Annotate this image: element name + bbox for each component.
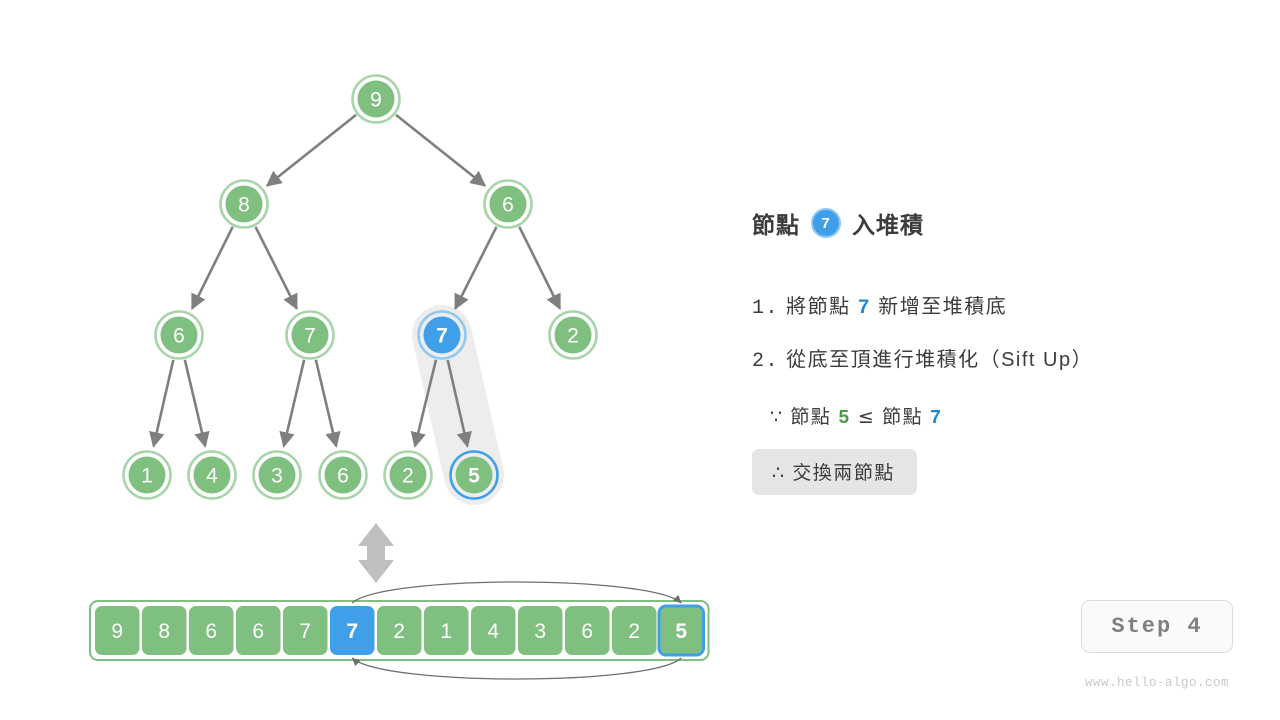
array-cell: 9 bbox=[95, 606, 140, 655]
panel-title-node-badge: 7 bbox=[811, 208, 841, 238]
array-cell: 8 bbox=[142, 606, 187, 655]
array-cell: 2 bbox=[612, 606, 657, 655]
step-1-text-before: 將節點 bbox=[786, 296, 851, 318]
diagram-canvas: 9866772143625 9866772143625 節點 7 入堆積 1. … bbox=[0, 0, 1280, 720]
conclusion-text: 交換兩節點 bbox=[792, 463, 895, 484]
tree-node-value: 6 bbox=[502, 194, 514, 217]
reason-left-value: 5 bbox=[838, 407, 851, 429]
reason-right-value: 7 bbox=[930, 407, 943, 429]
array-cell-value: 1 bbox=[440, 620, 452, 643]
tree-node: 2 bbox=[550, 312, 597, 359]
tree-node: 8 bbox=[221, 181, 268, 228]
tree-node: 3 bbox=[254, 452, 301, 499]
panel-title-prefix: 節點 bbox=[752, 206, 800, 240]
tree-node: 6 bbox=[156, 312, 203, 359]
tree-node: 7 bbox=[419, 312, 466, 359]
tree-node: 6 bbox=[485, 181, 532, 228]
panel-title-suffix: 入堆積 bbox=[852, 206, 924, 240]
step-1-index: 1. bbox=[752, 297, 779, 320]
heap-array: 9866772143625 bbox=[90, 601, 709, 660]
array-cell: 6 bbox=[236, 606, 281, 655]
step-2-text: 從底至頂進行堆積化（Sift Up） bbox=[786, 349, 1093, 371]
panel-title: 節點 7 入堆積 bbox=[752, 206, 1252, 240]
swap-vertical-arrow-icon bbox=[358, 523, 394, 583]
array-cell-value: 3 bbox=[534, 620, 546, 643]
array-cell-value: 2 bbox=[393, 620, 405, 643]
instruction-step-2: 2. 從底至頂進行堆積化（Sift Up） bbox=[752, 343, 1093, 373]
because-symbol: ∵ bbox=[770, 406, 784, 428]
tree-node-value: 7 bbox=[304, 325, 316, 348]
tree-node: 5 bbox=[451, 452, 498, 499]
array-cell-value: 7 bbox=[346, 620, 358, 643]
tree-nodes: 9866772143625 bbox=[124, 76, 597, 499]
tree-node: 7 bbox=[287, 312, 334, 359]
array-cell: 1 bbox=[424, 606, 469, 655]
array-cell-value: 5 bbox=[675, 620, 687, 643]
therefore-symbol: ∴ bbox=[772, 462, 786, 484]
watermark: www.hello-algo.com bbox=[1073, 676, 1241, 690]
reason-operator: ≤ bbox=[858, 406, 875, 428]
array-cell-value: 9 bbox=[111, 620, 123, 643]
tree-node: 6 bbox=[320, 452, 367, 499]
tree-node-value: 6 bbox=[337, 465, 349, 488]
array-cell-value: 8 bbox=[158, 620, 170, 643]
tree-node: 1 bbox=[124, 452, 171, 499]
array-cell: 7 bbox=[283, 606, 328, 655]
array-cell-value: 7 bbox=[299, 620, 311, 643]
step-badge: Step 4 bbox=[1081, 600, 1233, 653]
reason-right-label: 節點 bbox=[882, 407, 923, 428]
tree-node-value: 3 bbox=[271, 465, 283, 488]
array-cell: 3 bbox=[518, 606, 563, 655]
conclusion-badge: ∴ 交換兩節點 bbox=[752, 449, 917, 495]
tree-node-value: 7 bbox=[436, 325, 448, 348]
tree-node-value: 2 bbox=[567, 325, 579, 348]
explanation-panel: 節點 7 入堆積 1. 將節點 7 新增至堆積底 2. 從底至頂進行堆積化（Si… bbox=[752, 206, 1252, 240]
step-1-text-after: 新增至堆積底 bbox=[878, 296, 1007, 318]
tree-node-value: 1 bbox=[141, 465, 153, 488]
instruction-step-1: 1. 將節點 7 新增至堆積底 bbox=[752, 290, 1007, 320]
reason-left-label: 節點 bbox=[790, 407, 831, 428]
step-1-value: 7 bbox=[858, 297, 872, 320]
tree-node-value: 5 bbox=[468, 465, 480, 488]
step-2-index: 2. bbox=[752, 350, 779, 373]
tree-node-value: 8 bbox=[238, 194, 250, 217]
array-cell: 7 bbox=[330, 606, 375, 655]
tree-node: 9 bbox=[353, 76, 400, 123]
array-cell-value: 6 bbox=[252, 620, 264, 643]
tree-node-value: 2 bbox=[402, 465, 414, 488]
tree-node-value: 9 bbox=[370, 89, 382, 112]
tree-node: 2 bbox=[385, 452, 432, 499]
tree-node-value: 6 bbox=[173, 325, 185, 348]
array-cell-value: 6 bbox=[581, 620, 593, 643]
array-cell-value: 4 bbox=[487, 620, 499, 643]
heap-tree-and-array-graphic: 9866772143625 9866772143625 bbox=[0, 0, 740, 720]
array-cell-value: 6 bbox=[205, 620, 217, 643]
reason-line: ∵ 節點 5 ≤ 節點 7 bbox=[770, 402, 943, 429]
array-cell: 6 bbox=[189, 606, 234, 655]
tree-node-value: 4 bbox=[206, 465, 218, 488]
array-cell-value: 2 bbox=[628, 620, 640, 643]
array-cell: 6 bbox=[565, 606, 610, 655]
array-cell: 5 bbox=[659, 606, 704, 655]
tree-node: 4 bbox=[189, 452, 236, 499]
array-cell: 2 bbox=[377, 606, 422, 655]
array-cell: 4 bbox=[471, 606, 516, 655]
tree-edges bbox=[154, 115, 560, 446]
